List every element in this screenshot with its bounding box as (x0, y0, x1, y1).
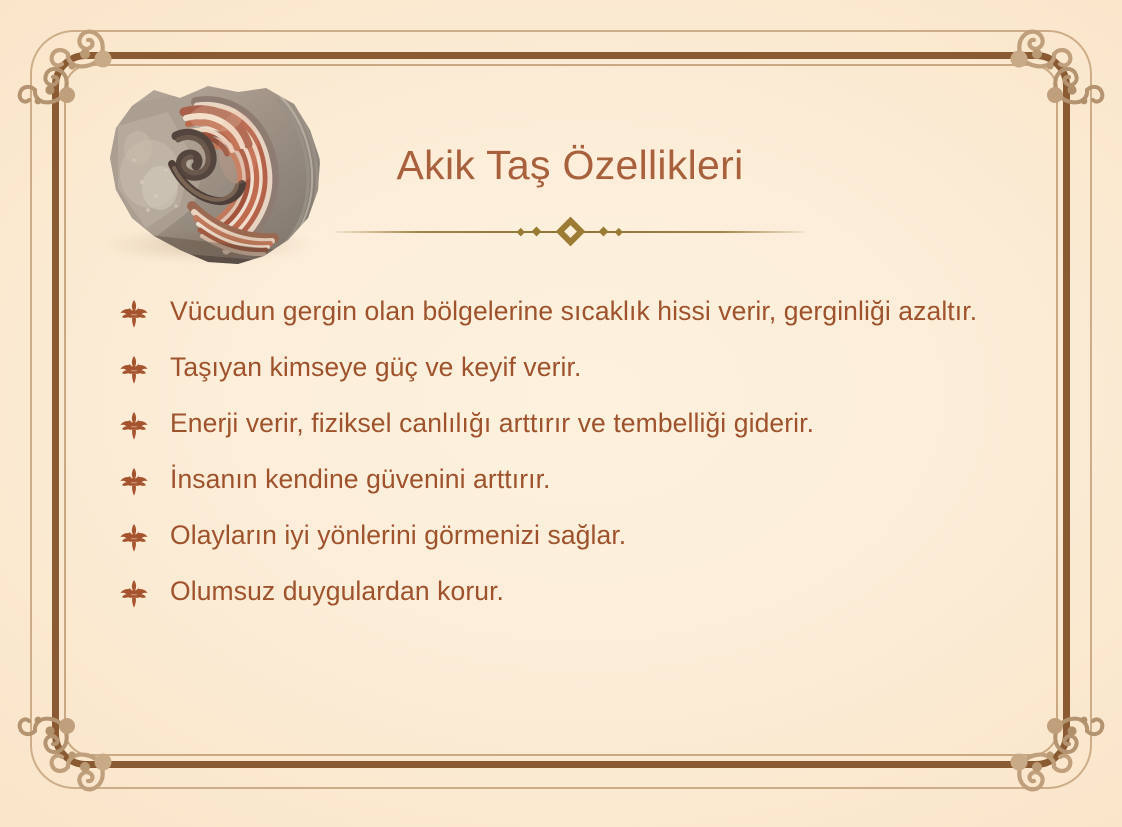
corner-ornament-bottom-right (966, 667, 1116, 817)
list-item: Taşıyan kimseye güç ve keyif verir. (118, 350, 998, 385)
fleur-de-lis-icon (118, 355, 150, 385)
properties-list: Vücudun gergin olan bölgelerine sıcaklık… (118, 294, 998, 630)
list-item: Enerji verir, fiziksel canlılığı arttırı… (118, 406, 998, 441)
list-item-label: Olumsuz duygulardan korur. (170, 574, 998, 609)
divider-small-diamond-right (599, 227, 609, 237)
stone-drop-shadow (102, 228, 312, 262)
divider-small-diamond-far-left (517, 228, 525, 236)
divider-center-diamond (555, 217, 585, 247)
list-item: Olumsuz duygulardan korur. (118, 574, 998, 609)
list-item-label: Olayların iyi yönlerini görmenizi sağlar… (170, 518, 998, 553)
agate-stone-image (88, 78, 332, 271)
list-item-label: Taşıyan kimseye güç ve keyif verir. (170, 350, 998, 385)
list-item: Vücudun gergin olan bölgelerine sıcaklık… (118, 294, 998, 329)
divider-small-diamond-far-right (615, 228, 623, 236)
list-item: İnsanın kendine güvenini arttırır. (118, 462, 998, 497)
list-item-label: Vücudun gergin olan bölgelerine sıcaklık… (170, 294, 998, 329)
corner-ornament-top-right (966, 4, 1116, 154)
page-title: Akik Taş Özellikleri (335, 142, 805, 189)
decorative-info-card: Akik Taş Özellikleri (0, 0, 1122, 827)
list-item-label: İnsanın kendine güvenini arttırır. (170, 462, 998, 497)
corner-ornament-bottom-left (6, 667, 156, 817)
fleur-de-lis-icon (118, 411, 150, 441)
fleur-de-lis-icon (118, 523, 150, 553)
fleur-de-lis-icon (118, 299, 150, 329)
fleur-de-lis-icon (118, 579, 150, 609)
list-item-label: Enerji verir, fiziksel canlılığı arttırı… (170, 406, 998, 441)
heading-block: Akik Taş Özellikleri (335, 142, 805, 245)
list-item: Olayların iyi yönlerini görmenizi sağlar… (118, 518, 998, 553)
divider-small-diamond-left (532, 227, 542, 237)
diamond-divider-ornament (335, 219, 805, 245)
fleur-de-lis-icon (118, 467, 150, 497)
